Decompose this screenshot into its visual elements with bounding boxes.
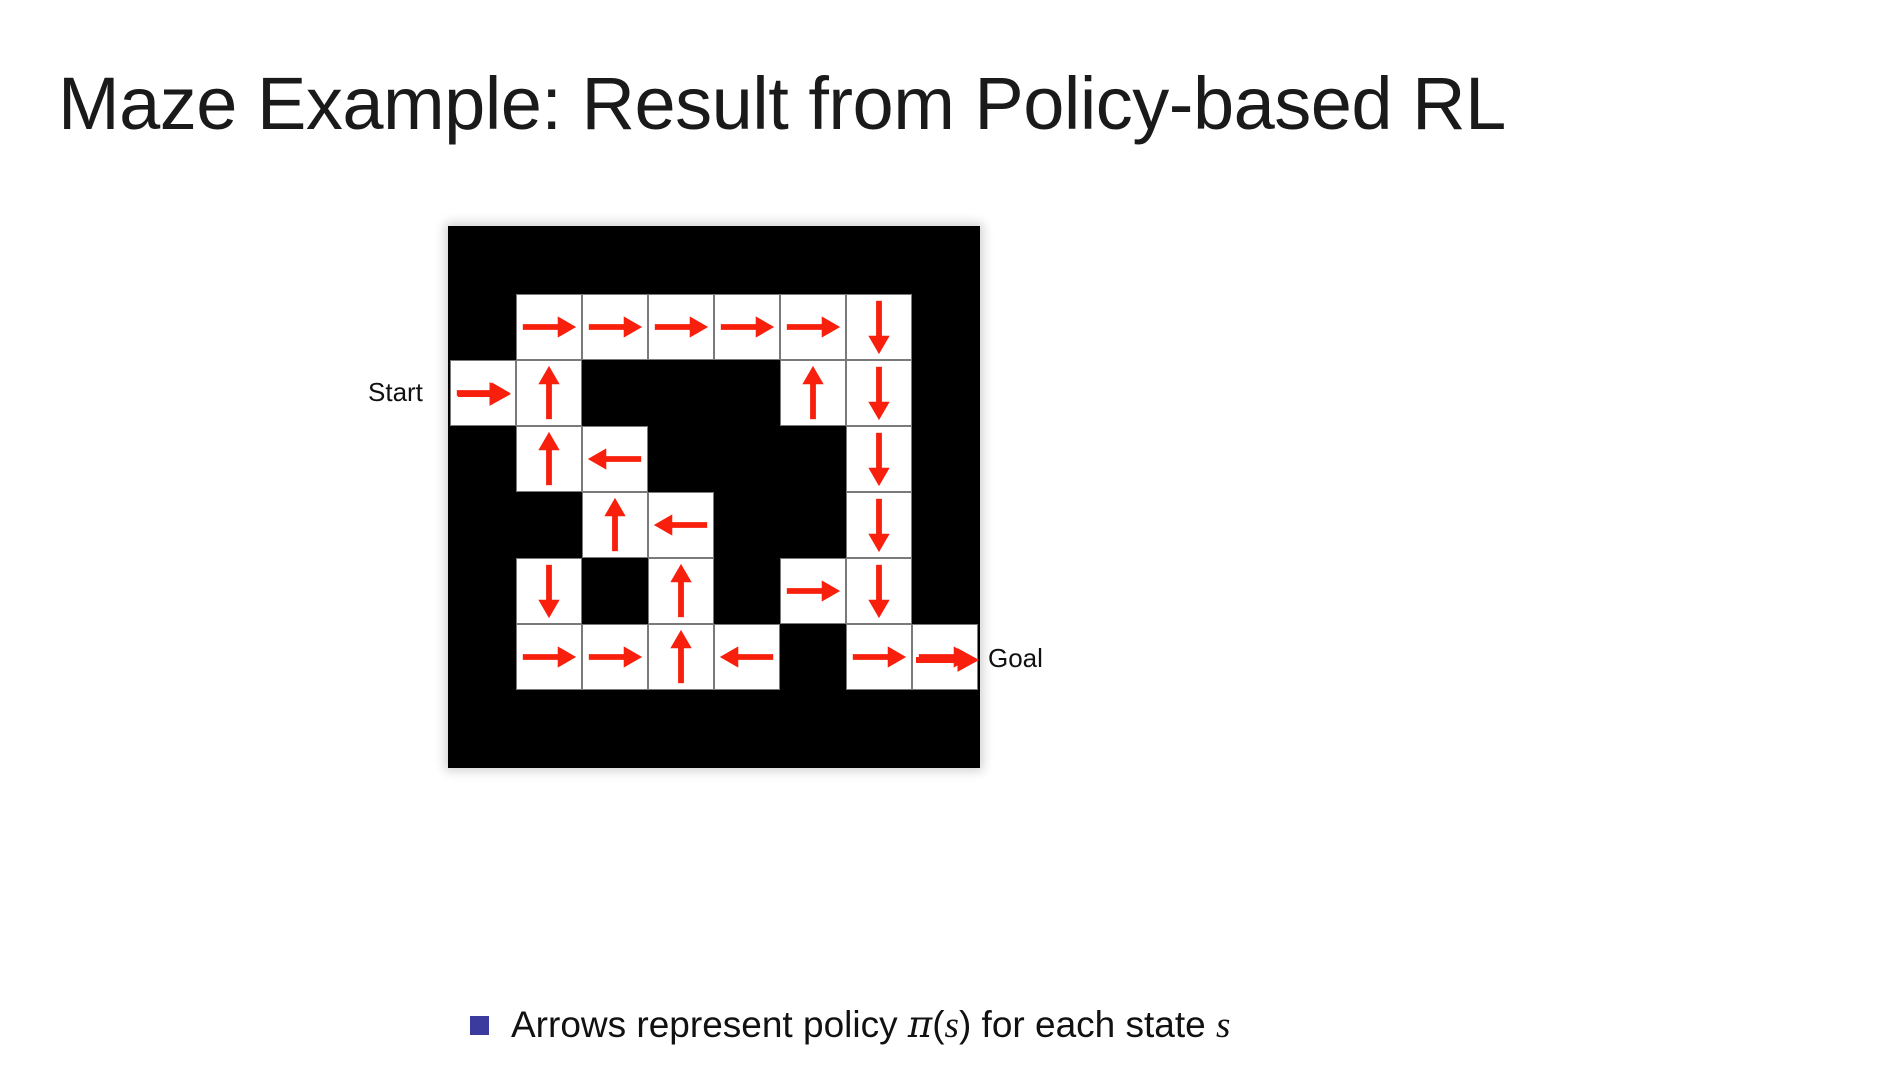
maze-cell-wall xyxy=(648,690,714,756)
pi-symbol: π xyxy=(908,1003,932,1046)
arrow-right-icon xyxy=(781,295,845,359)
maze-cell-wall xyxy=(912,294,978,360)
maze-cell-wall xyxy=(516,228,582,294)
goal-label: Goal xyxy=(988,642,1043,674)
maze-cell-wall xyxy=(648,360,714,426)
arrow-left-icon xyxy=(715,625,779,689)
arrow-down-icon xyxy=(847,361,911,425)
maze-cell-open xyxy=(648,558,714,624)
maze-cell-wall xyxy=(714,690,780,756)
maze-cell-wall xyxy=(450,492,516,558)
start-entry-arrow-icon xyxy=(448,360,516,428)
bullet-text-before: Arrows represent policy xyxy=(511,1004,908,1045)
arrow-right-icon xyxy=(649,295,713,359)
maze-cell-wall xyxy=(714,492,780,558)
maze-cell-wall xyxy=(846,228,912,294)
arrow-right-icon xyxy=(781,559,845,623)
maze-cell-wall xyxy=(912,360,978,426)
arrow-down-icon xyxy=(847,559,911,623)
maze-cell-wall xyxy=(582,360,648,426)
bullet-item-label: Arrows represent policy π(s) for each st… xyxy=(511,1002,1230,1049)
maze-cell-open xyxy=(648,624,714,690)
maze-cell-wall xyxy=(582,228,648,294)
maze-cell-open xyxy=(516,294,582,360)
bullet-square-icon xyxy=(470,1016,489,1035)
maze-cell-wall xyxy=(780,426,846,492)
paren-open: ( xyxy=(932,1004,944,1045)
state-variable-2: s xyxy=(1216,1005,1230,1046)
maze-cell-wall xyxy=(450,426,516,492)
maze-cell-open xyxy=(516,426,582,492)
maze-cell-wall xyxy=(912,492,978,558)
maze-cell-wall xyxy=(780,624,846,690)
state-variable: s xyxy=(945,1005,959,1046)
maze-cell-wall xyxy=(912,228,978,294)
maze-cell-open xyxy=(846,624,912,690)
arrow-up-icon xyxy=(517,361,581,425)
maze-diagram xyxy=(448,226,980,768)
paren-close: ) xyxy=(959,1004,971,1045)
maze-cell-wall xyxy=(780,492,846,558)
arrow-up-icon xyxy=(583,493,647,557)
maze-cell-open xyxy=(846,426,912,492)
maze-cell-open xyxy=(846,558,912,624)
maze-cell-wall xyxy=(450,294,516,360)
arrow-down-icon xyxy=(847,427,911,491)
maze-cell-open xyxy=(780,360,846,426)
maze-cell-wall xyxy=(450,690,516,756)
maze-cell-open xyxy=(780,558,846,624)
maze-cell-wall xyxy=(780,228,846,294)
arrow-right-icon xyxy=(517,625,581,689)
maze-cell-wall xyxy=(450,558,516,624)
bullet-list-item: Arrows represent policy π(s) for each st… xyxy=(470,1002,1230,1049)
maze-board xyxy=(448,226,980,768)
maze-cell-open xyxy=(714,624,780,690)
maze-cell-open xyxy=(582,624,648,690)
arrow-up-icon xyxy=(649,559,713,623)
maze-cell-wall xyxy=(912,558,978,624)
maze-cell-wall xyxy=(912,426,978,492)
maze-cell-wall xyxy=(450,228,516,294)
maze-cell-open xyxy=(648,294,714,360)
maze-cell-wall xyxy=(450,624,516,690)
page-title: Maze Example: Result from Policy-based R… xyxy=(58,58,1818,150)
maze-cell-wall xyxy=(912,690,978,756)
arrow-down-icon xyxy=(847,295,911,359)
arrow-right-icon xyxy=(517,295,581,359)
slide-canvas: Maze Example: Result from Policy-based R… xyxy=(0,0,1886,1080)
maze-cell-wall xyxy=(714,558,780,624)
maze-cell-wall xyxy=(648,228,714,294)
arrow-left-icon xyxy=(583,427,647,491)
maze-cell-wall xyxy=(648,426,714,492)
maze-cell-open xyxy=(516,624,582,690)
maze-cell-open xyxy=(582,492,648,558)
arrow-left-icon xyxy=(649,493,713,557)
maze-cell-wall xyxy=(780,690,846,756)
maze-cell-open xyxy=(516,360,582,426)
maze-cell-wall xyxy=(714,228,780,294)
maze-cell-wall xyxy=(582,558,648,624)
maze-cell-open xyxy=(516,558,582,624)
arrow-right-icon xyxy=(583,295,647,359)
maze-cell-wall xyxy=(714,426,780,492)
goal-exit-arrow-icon xyxy=(912,626,982,694)
maze-cell-wall xyxy=(714,360,780,426)
arrow-up-icon xyxy=(649,625,713,689)
maze-cell-open xyxy=(846,294,912,360)
maze-cell-open xyxy=(582,426,648,492)
maze-cell-wall xyxy=(582,690,648,756)
maze-cell-open xyxy=(846,360,912,426)
arrow-right-icon xyxy=(847,625,911,689)
arrow-right-icon xyxy=(583,625,647,689)
arrow-up-icon xyxy=(781,361,845,425)
arrow-down-icon xyxy=(517,559,581,623)
maze-cell-wall xyxy=(516,690,582,756)
maze-cell-open xyxy=(780,294,846,360)
arrow-up-icon xyxy=(517,427,581,491)
maze-cell-open xyxy=(582,294,648,360)
maze-cell-wall xyxy=(846,690,912,756)
maze-cell-wall xyxy=(516,492,582,558)
maze-cell-open xyxy=(714,294,780,360)
arrow-down-icon xyxy=(847,493,911,557)
maze-cell-open xyxy=(648,492,714,558)
arrow-right-icon xyxy=(715,295,779,359)
maze-cell-open xyxy=(846,492,912,558)
bullet-text-after: for each state xyxy=(971,1004,1216,1045)
start-label: Start xyxy=(368,376,423,408)
